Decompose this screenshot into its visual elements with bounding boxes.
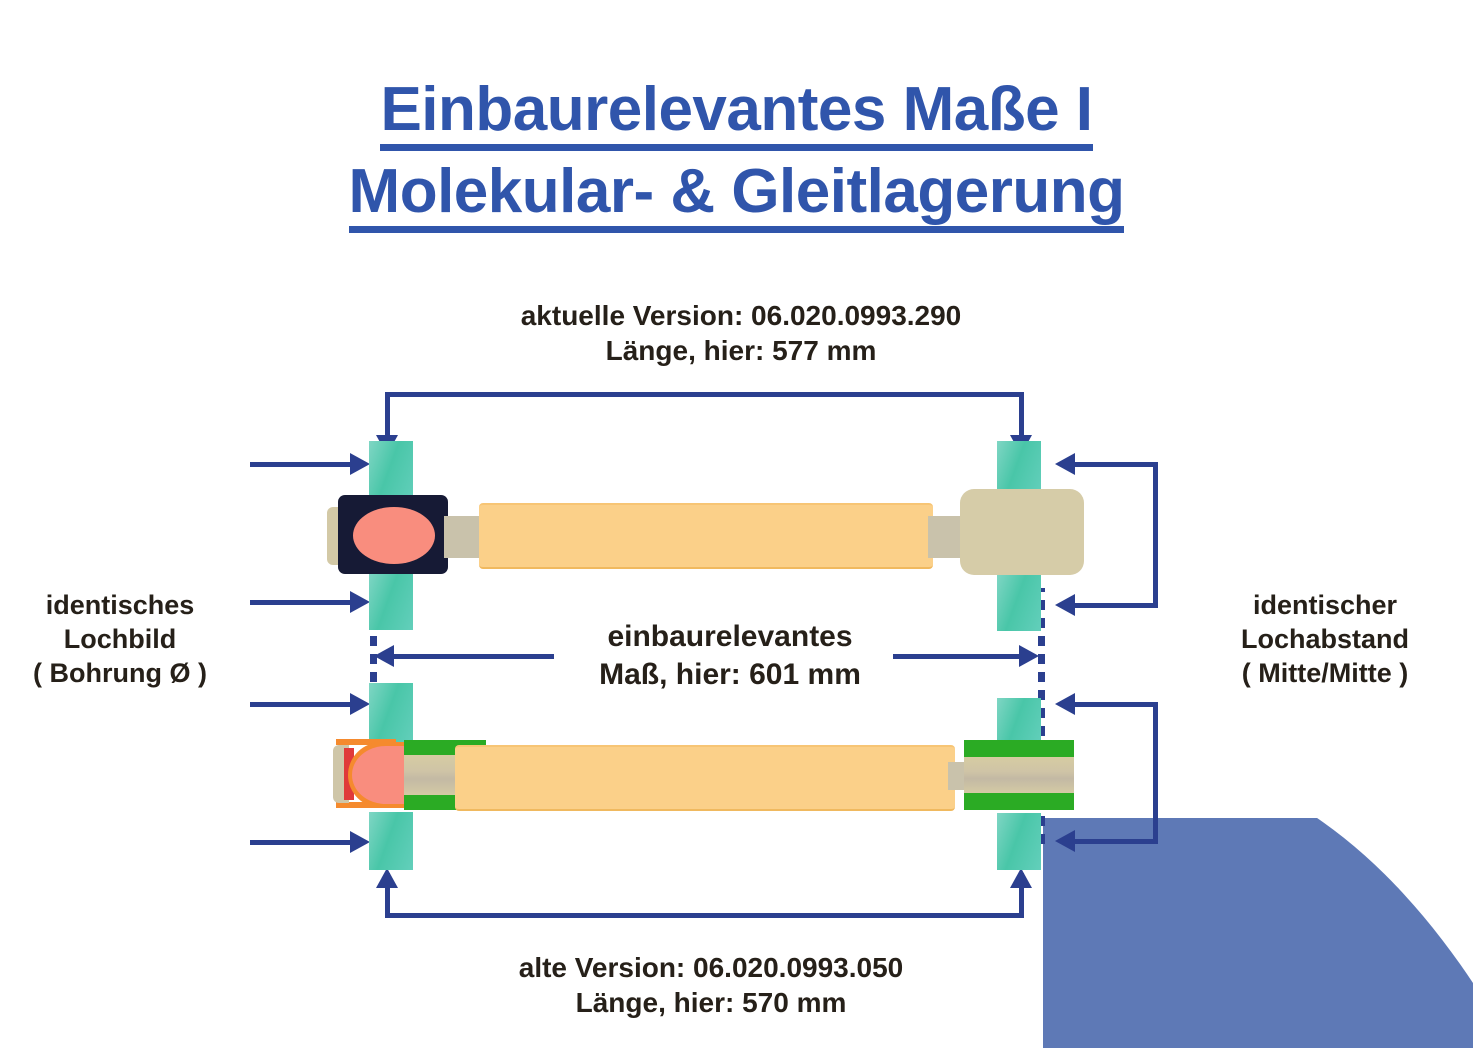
molecular-bearing-ellipse xyxy=(353,507,435,564)
upper-right-bracket-bottom xyxy=(997,574,1041,631)
title-line-1: Einbaurelevantes Maße I xyxy=(380,78,1092,151)
blue-swoosh-shape xyxy=(1043,818,1473,1048)
upper-right-bracket-top xyxy=(997,441,1041,494)
upper-right-hub-block xyxy=(960,489,1084,575)
lower-left-bracket-bottom xyxy=(369,812,413,870)
bottom-dimension-right-arrow-icon xyxy=(1010,868,1032,888)
right-leader-line-4 xyxy=(1075,839,1158,844)
top-dimension-right-leg xyxy=(1019,392,1024,438)
right-leader-arrow-4-icon xyxy=(1055,830,1075,852)
left-leader-arrow-4-icon xyxy=(350,831,370,853)
right-leader-arrow-2-icon xyxy=(1055,594,1075,616)
lower-rod xyxy=(455,745,955,811)
page-title: Einbaurelevantes Maße I Molekular- & Gle… xyxy=(0,78,1473,233)
upper-rod xyxy=(479,503,933,569)
left-caption-lochbild: identisches Lochbild ( Bohrung Ø ) xyxy=(0,588,240,690)
center-dimension-right-arrow-icon xyxy=(1019,645,1039,667)
lower-left-bracket-top xyxy=(369,683,413,745)
right-leader-vertical-bottom xyxy=(1153,702,1158,844)
middle-caption-einbaurelevantes-mass: einbaurelevantes Maß, hier: 601 mm xyxy=(520,618,940,694)
left-leader-arrow-1-icon xyxy=(350,453,370,475)
top-dimension-left-leg xyxy=(385,392,390,438)
right-leader-arrow-3-icon xyxy=(1055,693,1075,715)
lower-right-bracket-top xyxy=(997,698,1041,746)
lower-right-bracket-bottom xyxy=(997,813,1041,870)
right-leader-arrow-1-icon xyxy=(1055,453,1075,475)
lower-right-green-band-bottom xyxy=(964,790,1074,810)
right-leader-line-1 xyxy=(1075,462,1158,467)
left-leader-line-3 xyxy=(250,702,350,707)
corner-decoration xyxy=(1043,818,1473,1048)
title-line-2: Molekular- & Gleitlagerung xyxy=(349,160,1125,233)
center-dimension-left-arrow-icon xyxy=(374,645,394,667)
left-leader-line-1 xyxy=(250,462,350,467)
bottom-dimension-left-arrow-icon xyxy=(376,868,398,888)
right-caption-lochabstand: identischer Lochabstand ( Mitte/Mitte ) xyxy=(1190,588,1460,690)
bottom-caption-old-version: alte Version: 06.020.0993.050 Länge, hie… xyxy=(336,950,1086,1021)
left-leader-line-2 xyxy=(250,600,350,605)
bottom-dimension-horizontal-line xyxy=(385,913,1024,918)
right-leader-line-3 xyxy=(1075,702,1158,707)
left-leader-arrow-3-icon xyxy=(350,693,370,715)
upper-left-bracket-bottom xyxy=(369,572,413,630)
diagram-page: Einbaurelevantes Maße I Molekular- & Gle… xyxy=(0,0,1473,1048)
right-leader-line-2 xyxy=(1075,603,1158,608)
center-dimension-left-line xyxy=(394,654,554,659)
top-caption-new-version: aktuelle Version: 06.020.0993.290 Länge,… xyxy=(366,298,1116,369)
left-leader-line-4 xyxy=(250,840,350,845)
center-dimension-right-line xyxy=(893,654,1019,659)
lower-right-sleeve xyxy=(964,757,1074,793)
right-leader-vertical-top xyxy=(1153,462,1158,608)
left-leader-arrow-2-icon xyxy=(350,591,370,613)
top-dimension-horizontal-line xyxy=(385,392,1024,397)
